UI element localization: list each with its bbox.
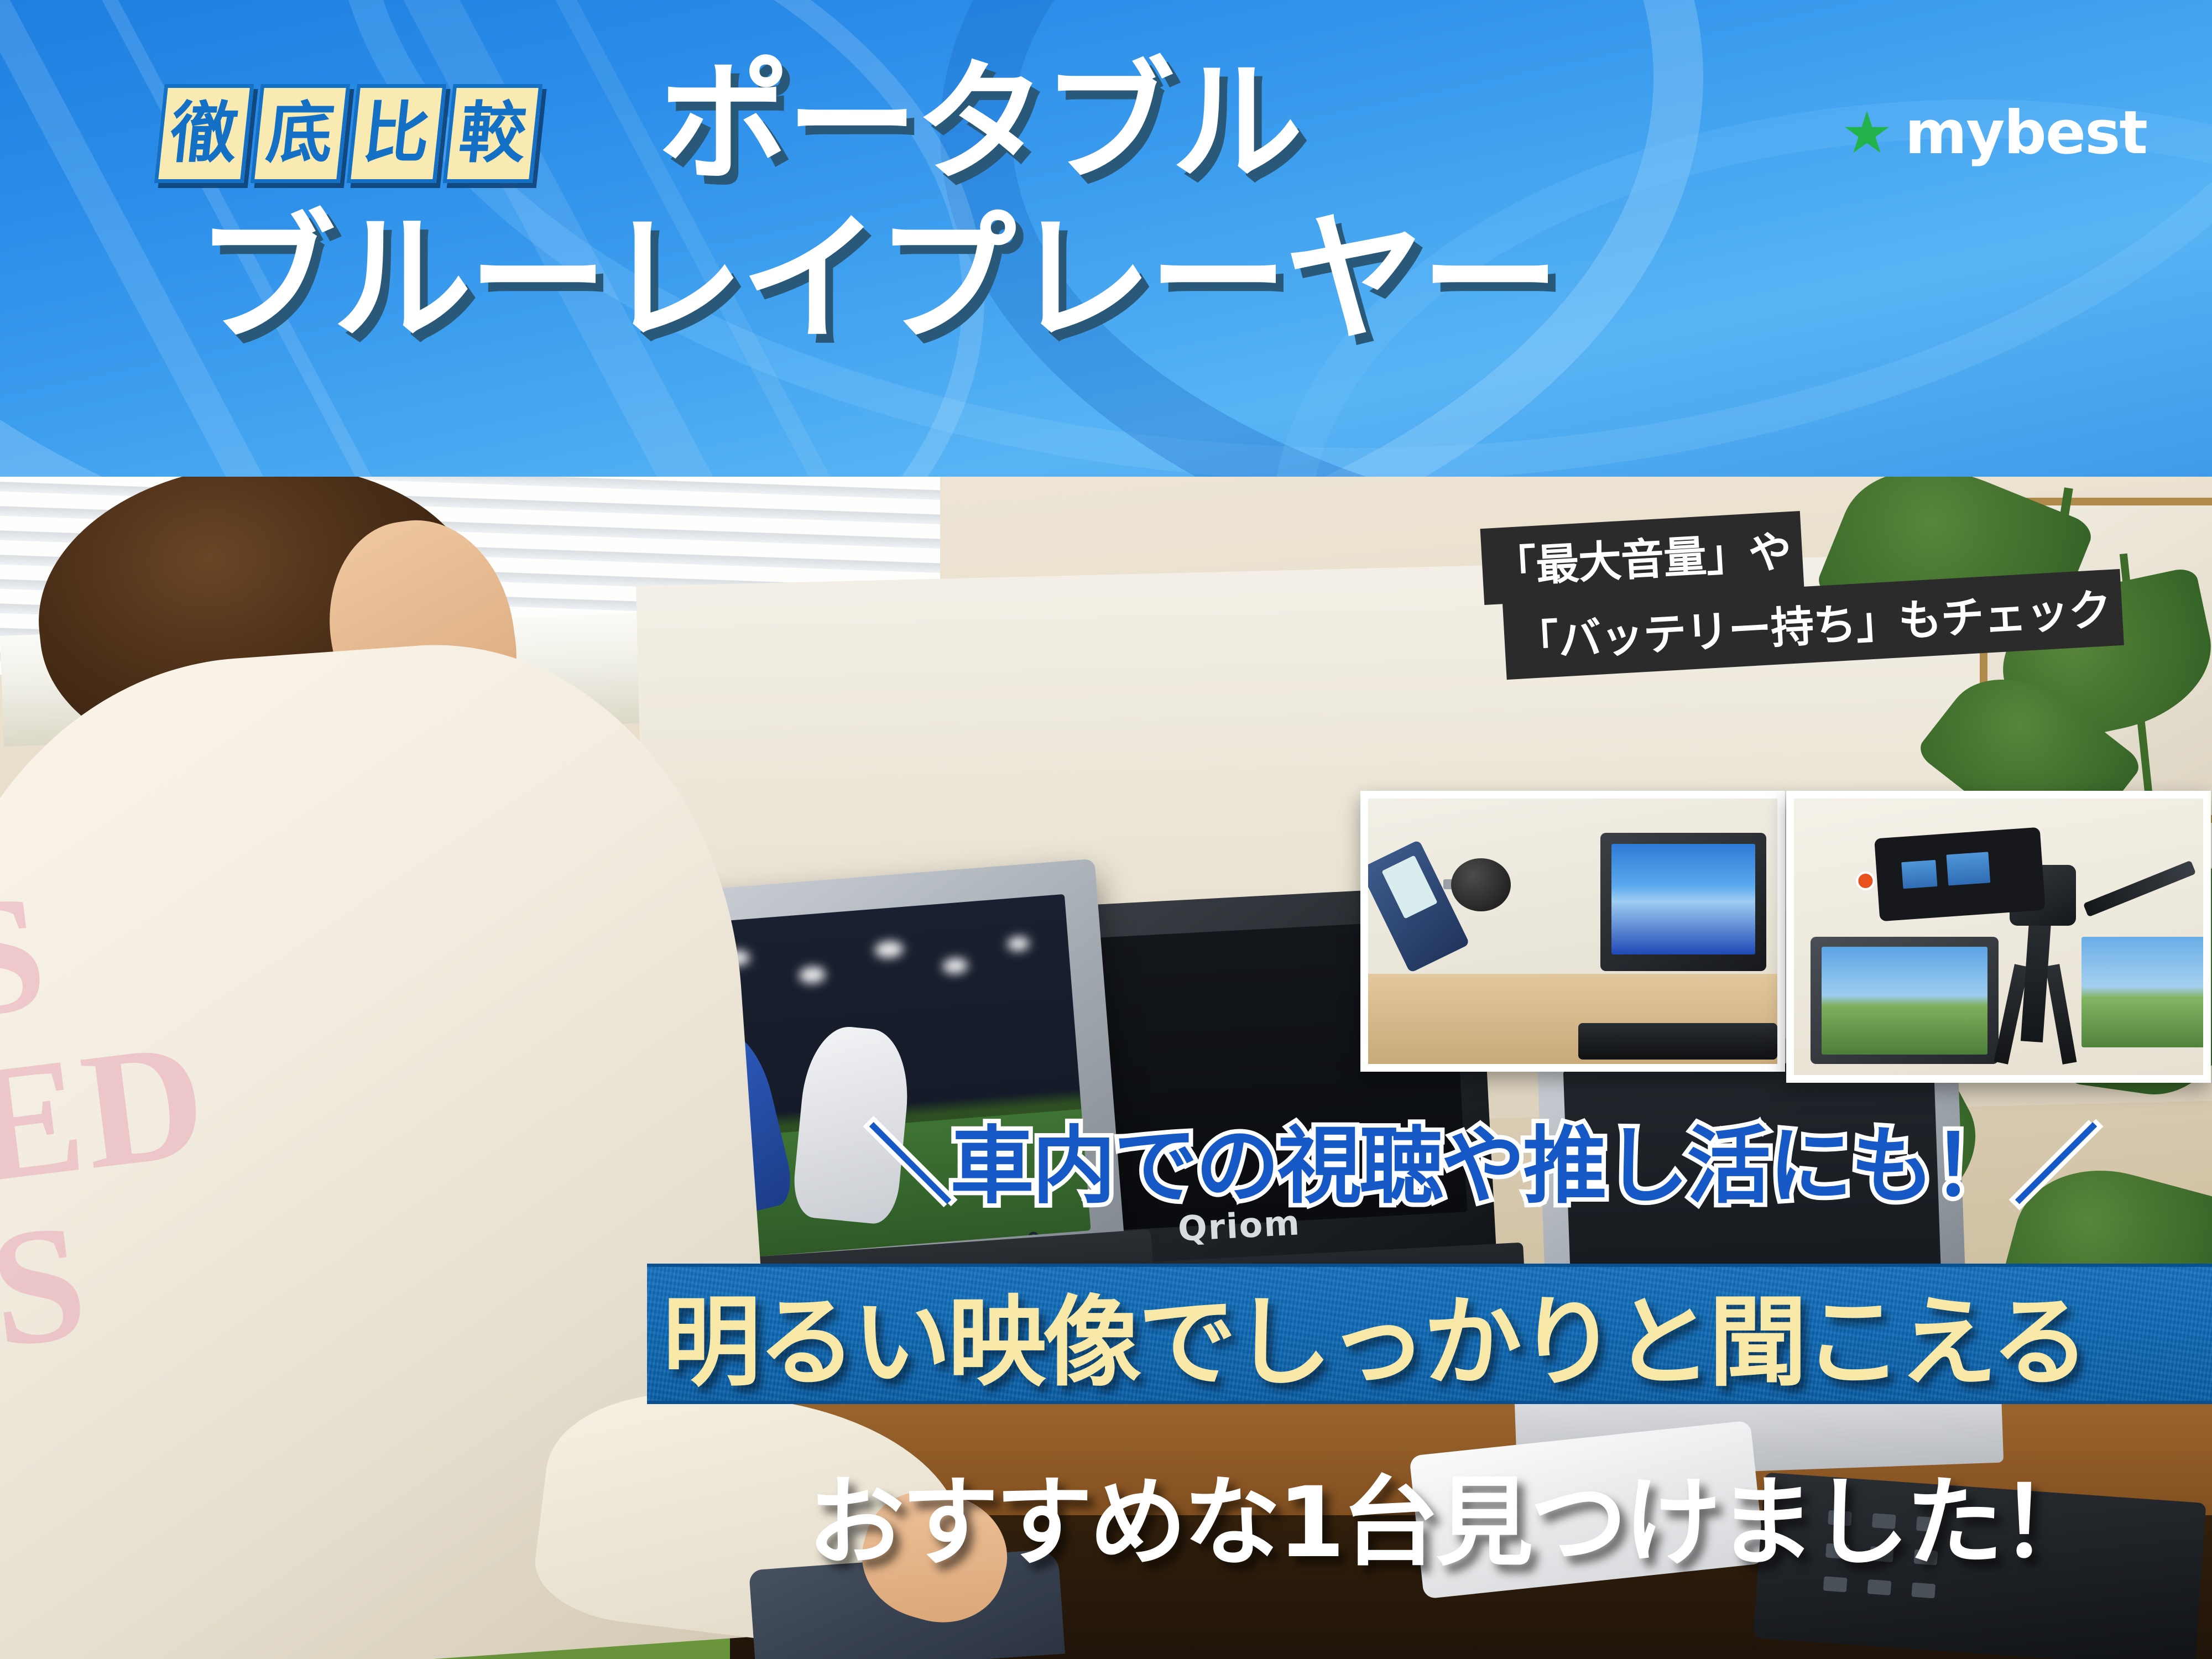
portable-player-device-screen: [1611, 844, 1755, 954]
portable-player-device-base: [1578, 1023, 1777, 1060]
bottom-tagline: おすすめな1台見つけました！: [807, 1443, 2094, 1584]
thumbnail-canvas: Qriom 9 一時停止: [0, 0, 2212, 1659]
feature-banner: 明るい映像でしっかりと聞こえる: [647, 1264, 2212, 1404]
stadium-light: [942, 957, 968, 975]
stadium-light: [799, 966, 826, 984]
mybest-wordmark: mybest: [1905, 98, 2147, 168]
inset-photo-sound-test-image: [1368, 799, 1777, 1064]
star-icon: ★: [1841, 105, 1892, 162]
smartphone-on-tripod: [1874, 827, 2046, 922]
stadium-light: [874, 940, 904, 959]
portable-player-monitor-screen: [1822, 947, 1987, 1055]
inset-photo-tripod-recording-image: [1794, 799, 2203, 1075]
portable-player-monitor-secondary: [2081, 937, 2203, 1047]
mid-callout-text: ＼車内での視聴や推し活にも！／: [868, 1098, 2096, 1219]
page-title-line-2: ブルーレイプレーヤー: [196, 166, 1557, 368]
inset-photo-tripod-recording: [1786, 791, 2211, 1083]
stadium-light: [1007, 936, 1030, 952]
header-banner: 徹 底 比 較 ポータブル ブルーレイプレーヤー ★ mybest: [0, 0, 2212, 477]
microphone-icon: [1451, 858, 1511, 911]
inset-photo-sound-test: [1360, 791, 1785, 1072]
feature-banner-text: 明るい映像でしっかりと聞こえる: [647, 1263, 2086, 1405]
mybest-logo[interactable]: ★ mybest: [1841, 98, 2147, 168]
